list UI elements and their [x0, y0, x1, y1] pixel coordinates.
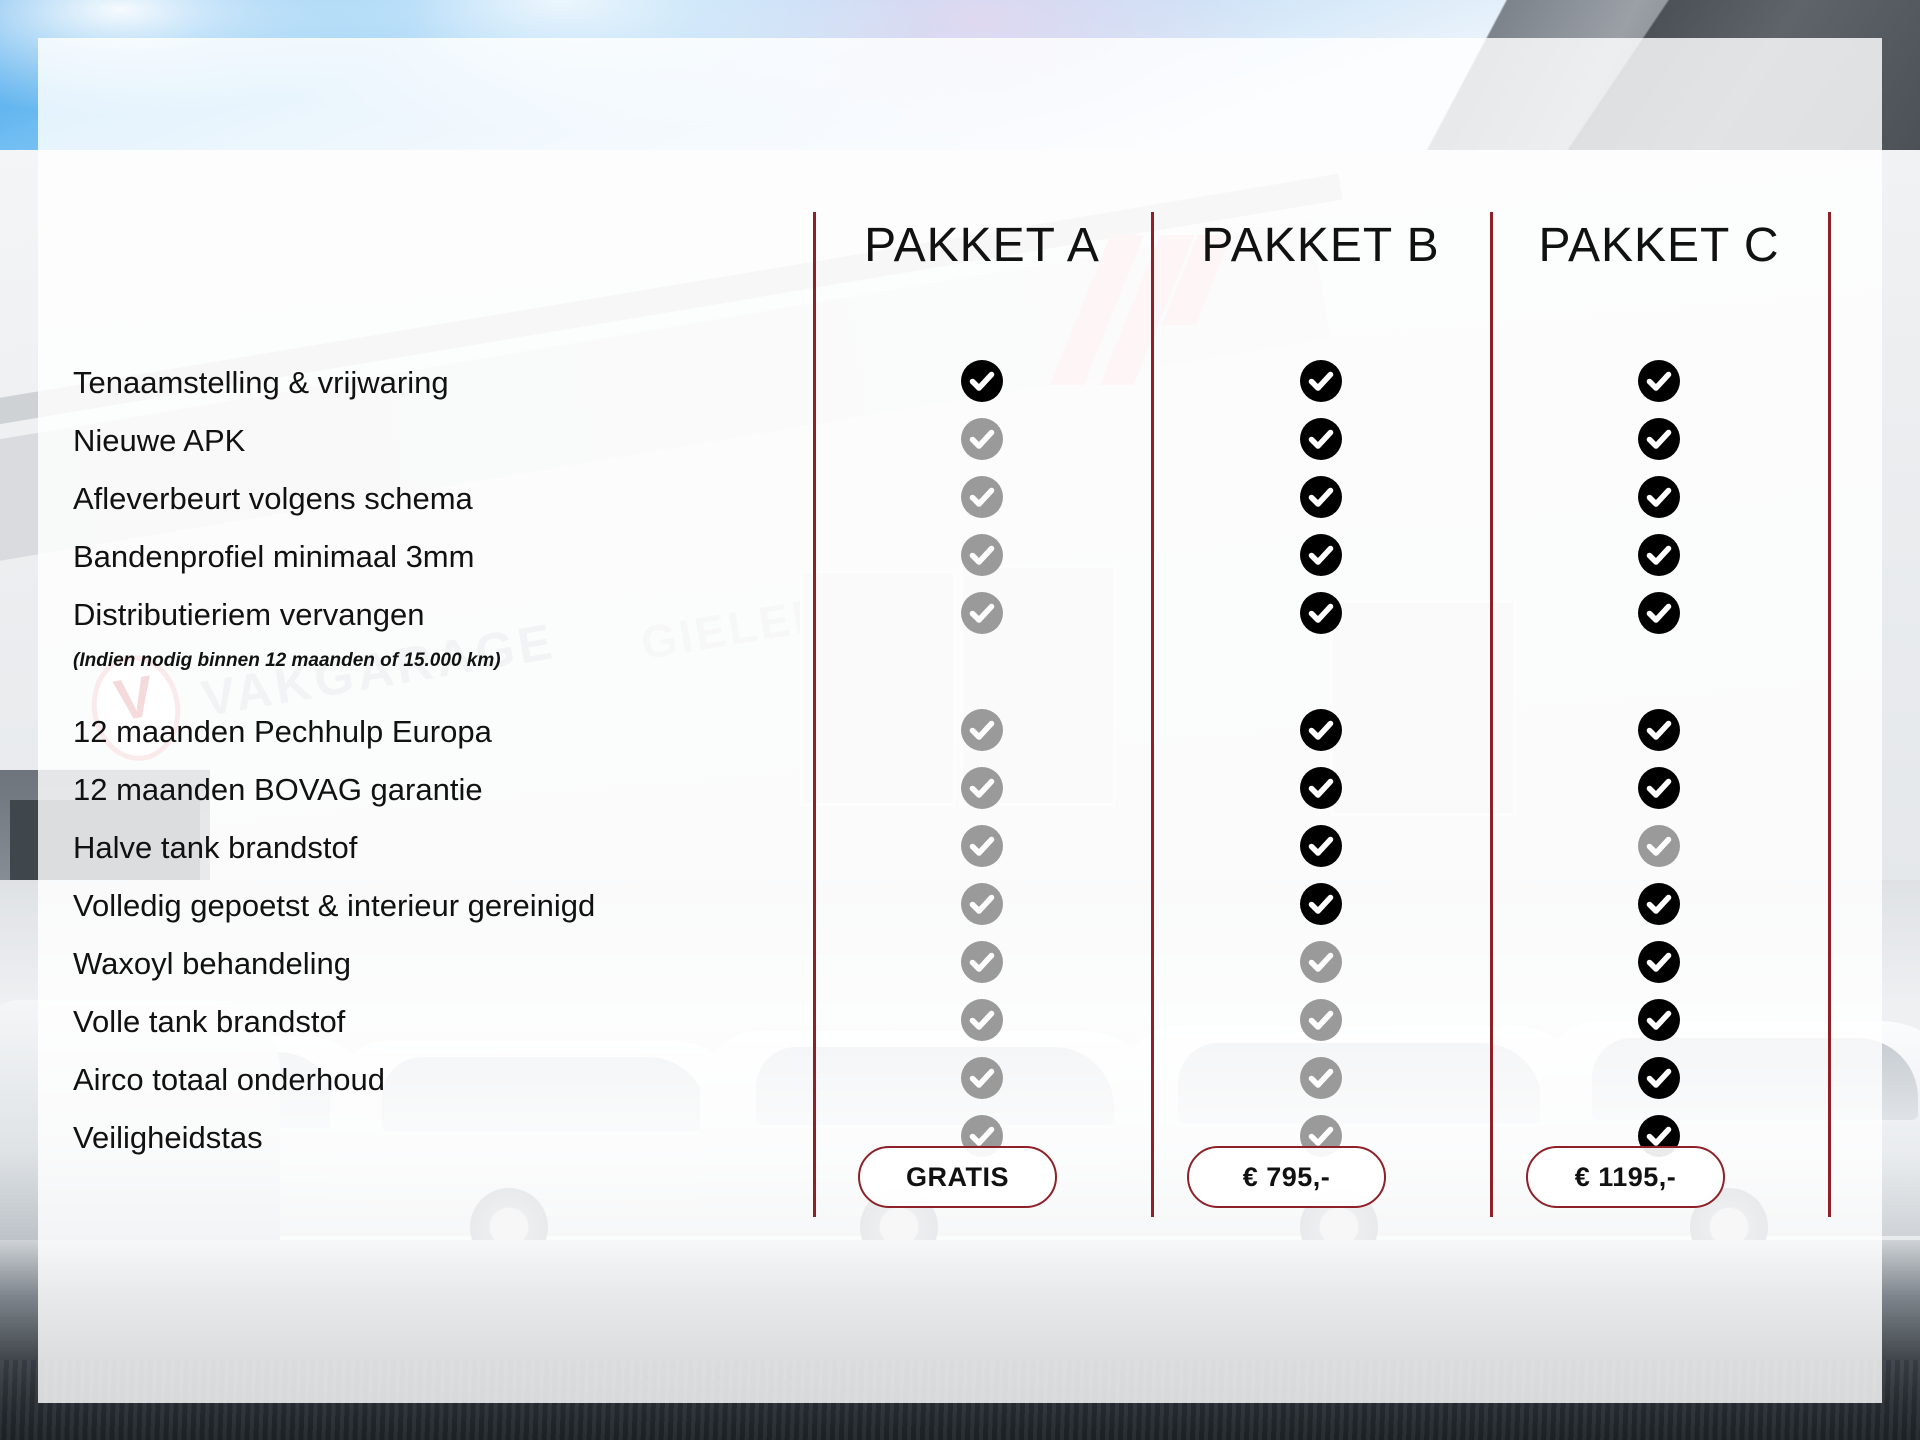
check-icon — [1638, 476, 1680, 518]
feature-label: Airco totaal onderhoud — [73, 1062, 385, 1098]
feature-label: Waxoyl behandeling — [73, 946, 351, 982]
feature-label: Volle tank brandstof — [73, 1004, 345, 1040]
feature-label: Bandenprofiel minimaal 3mm — [73, 539, 474, 575]
column-header-pakket-c: PAKKET C — [1490, 218, 1828, 273]
feature-label: 12 maanden BOVAG garantie — [73, 772, 483, 808]
feature-label: Distributieriem vervangen — [73, 597, 424, 633]
check-icon — [961, 999, 1003, 1041]
check-icon — [961, 883, 1003, 925]
price-pill-pakket-a[interactable]: GRATIS — [858, 1146, 1057, 1208]
check-icon — [961, 418, 1003, 460]
check-icon — [1638, 1057, 1680, 1099]
check-icon — [1300, 941, 1342, 983]
check-icon — [1300, 767, 1342, 809]
column-divider-left — [813, 212, 816, 1217]
check-icon — [1638, 418, 1680, 460]
check-icon — [961, 941, 1003, 983]
feature-label: Nieuwe APK — [73, 423, 245, 459]
price-pill-pakket-b[interactable]: € 795,- — [1187, 1146, 1386, 1208]
check-icon — [1300, 883, 1342, 925]
feature-note: (Indien nodig binnen 12 maanden of 15.00… — [73, 651, 501, 670]
check-icon — [1638, 534, 1680, 576]
check-icon — [1638, 592, 1680, 634]
check-icon — [1638, 709, 1680, 751]
feature-label: Afleverbeurt volgens schema — [73, 481, 473, 517]
check-icon — [1638, 941, 1680, 983]
check-icon — [1300, 999, 1342, 1041]
check-icon — [1638, 883, 1680, 925]
check-icon — [961, 592, 1003, 634]
check-icon — [961, 709, 1003, 751]
feature-label: Halve tank brandstof — [73, 830, 357, 866]
check-icon — [1638, 360, 1680, 402]
feature-label: Veiligheidstas — [73, 1120, 263, 1156]
package-comparison-table: PAKKET A PAKKET B PAKKET C Tenaamstellin… — [38, 38, 1882, 1403]
check-icon — [1300, 476, 1342, 518]
price-pill-pakket-c[interactable]: € 1195,- — [1526, 1146, 1725, 1208]
column-divider-a-b — [1151, 212, 1154, 1217]
column-divider-right — [1828, 212, 1831, 1217]
check-icon — [961, 767, 1003, 809]
check-icon — [1638, 767, 1680, 809]
check-icon — [1638, 999, 1680, 1041]
column-header-pakket-a: PAKKET A — [813, 218, 1151, 273]
check-icon — [961, 476, 1003, 518]
check-icon — [1638, 825, 1680, 867]
check-icon — [1300, 360, 1342, 402]
check-icon — [961, 1057, 1003, 1099]
column-header-pakket-b: PAKKET B — [1151, 218, 1490, 273]
feature-label: 12 maanden Pechhulp Europa — [73, 714, 492, 750]
check-icon — [1300, 534, 1342, 576]
check-icon — [1300, 418, 1342, 460]
check-icon — [1300, 1057, 1342, 1099]
check-icon — [1300, 825, 1342, 867]
column-divider-b-c — [1490, 212, 1493, 1217]
check-icon — [1300, 592, 1342, 634]
check-icon — [961, 360, 1003, 402]
check-icon — [961, 825, 1003, 867]
check-icon — [961, 534, 1003, 576]
feature-label: Volledig gepoetst & interieur gereinigd — [73, 888, 595, 924]
check-icon — [1300, 709, 1342, 751]
feature-label: Tenaamstelling & vrijwaring — [73, 365, 449, 401]
